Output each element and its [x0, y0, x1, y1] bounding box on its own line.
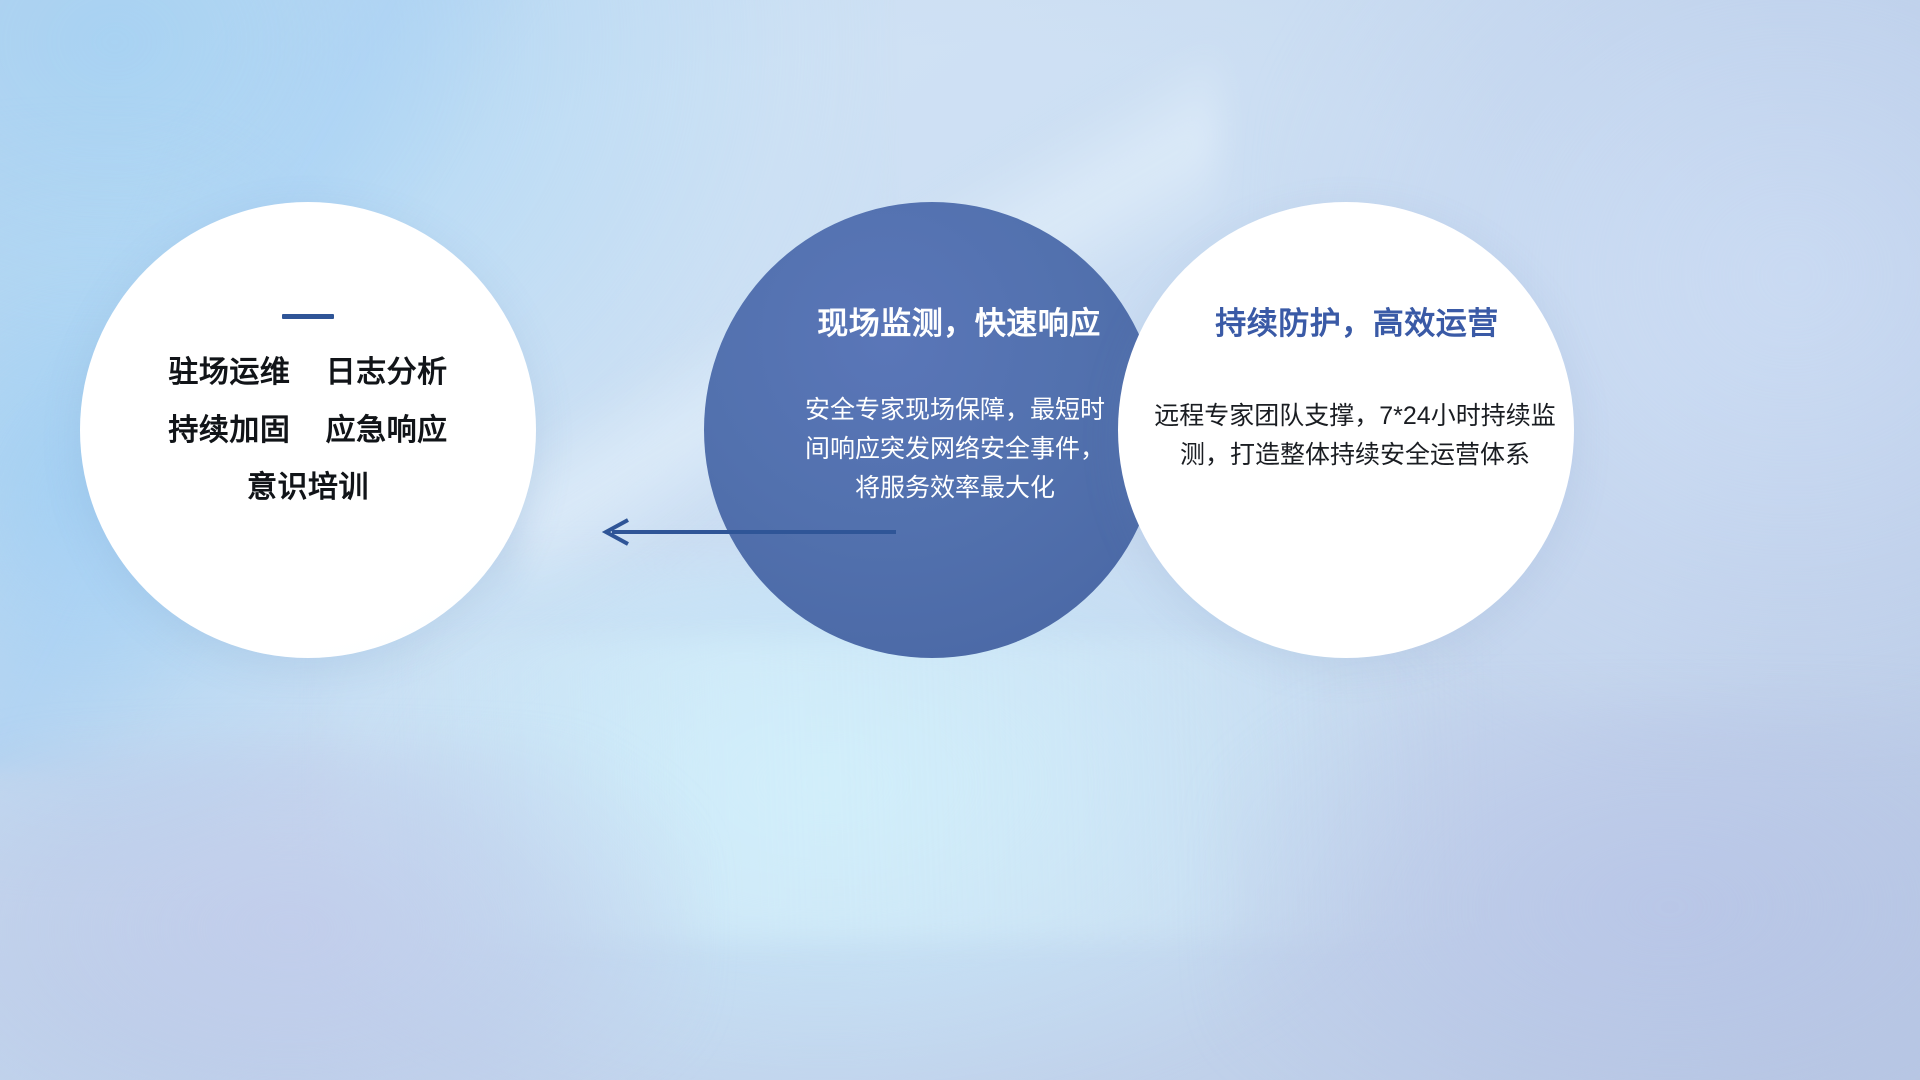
- middle-circle-title: 现场监测，快速响应: [817, 298, 1101, 343]
- left-circle-line-2: 持续加固 应急响应: [168, 415, 447, 447]
- title-divider: [282, 314, 334, 319]
- diagram-canvas: 驻场运维 日志分析 持续加固 应急响应 意识培训 现场监测，快速响应 安全专家现…: [0, 0, 1920, 1080]
- middle-circle-body: 安全专家现场保障，最短时间响应突发网络安全事件，将服务效率最大化: [805, 391, 1105, 507]
- left-circle-line-3: 意识培训: [247, 472, 369, 504]
- right-circle-body: 远程专家团队支撑，7*24小时持续监测，打造整体持续安全运营体系: [1145, 397, 1565, 475]
- capability-circle-left-content: 驻场运维 日志分析 持续加固 应急响应 意识培训: [80, 202, 536, 658]
- left-circle-line-1: 驻场运维 日志分析: [168, 357, 447, 389]
- capability-circle-right-content: 持续防护，高效运营 远程专家团队支撑，7*24小时持续监测，打造整体持续安全运营…: [1118, 202, 1574, 658]
- capability-circle-middle-content: 现场监测，快速响应 安全专家现场保障，最短时间响应突发网络安全事件，将服务效率最…: [704, 202, 1160, 658]
- right-circle-title: 持续防护，高效运营: [1215, 298, 1499, 343]
